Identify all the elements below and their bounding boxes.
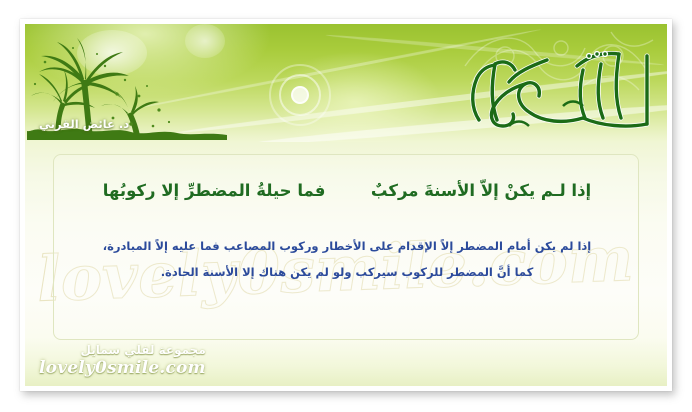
footer-group-name: مجموعة لفلي سمايل — [39, 343, 206, 357]
light-flare-icon — [291, 86, 309, 104]
title-calligraphy: الشوارد — [451, 30, 661, 140]
content-box: إذا لـم يكنْ إلاّ الأسنةَ مركبٌ فما حيلة… — [53, 154, 639, 340]
footer-site-url[interactable]: lovely0smile.com — [39, 358, 206, 378]
header-banner: الشوارد د. عائض القرني — [25, 24, 667, 142]
footer: مجموعة لفلي سمايل lovely0smile.com — [39, 343, 206, 378]
title-calligraphy-glyphs: الشوارد — [451, 30, 661, 140]
explanation-line-2: كما أنَّ المضطر للركوب سيركب ولو لم يكن … — [68, 259, 626, 285]
poster-card: الشوارد د. عائض القرني lovely0smile.com … — [25, 24, 667, 386]
author-name: د. عائض القرني — [39, 117, 129, 131]
poem-hemistich-right: إذا لـم يكنْ إلاّ الأسنةَ مركبٌ — [371, 181, 591, 200]
explanation-text: إذا لم يكن أمام المضطر إلاً الإقدام على … — [68, 233, 626, 285]
explanation-line-1: إذا لم يكن أمام المضطر إلاً الإقدام على … — [68, 233, 626, 259]
poem-verse: إذا لـم يكنْ إلاّ الأسنةَ مركبٌ فما حيلة… — [54, 181, 640, 200]
poster-root: الشوارد د. عائض القرني lovely0smile.com … — [0, 0, 692, 412]
poem-hemistich-left: فما حيلةُ المضطرِّ إلا ركوبُها — [103, 181, 326, 200]
content-area: lovely0smile.com إذا لـم يكنْ إلاّ الأسن… — [25, 142, 667, 386]
